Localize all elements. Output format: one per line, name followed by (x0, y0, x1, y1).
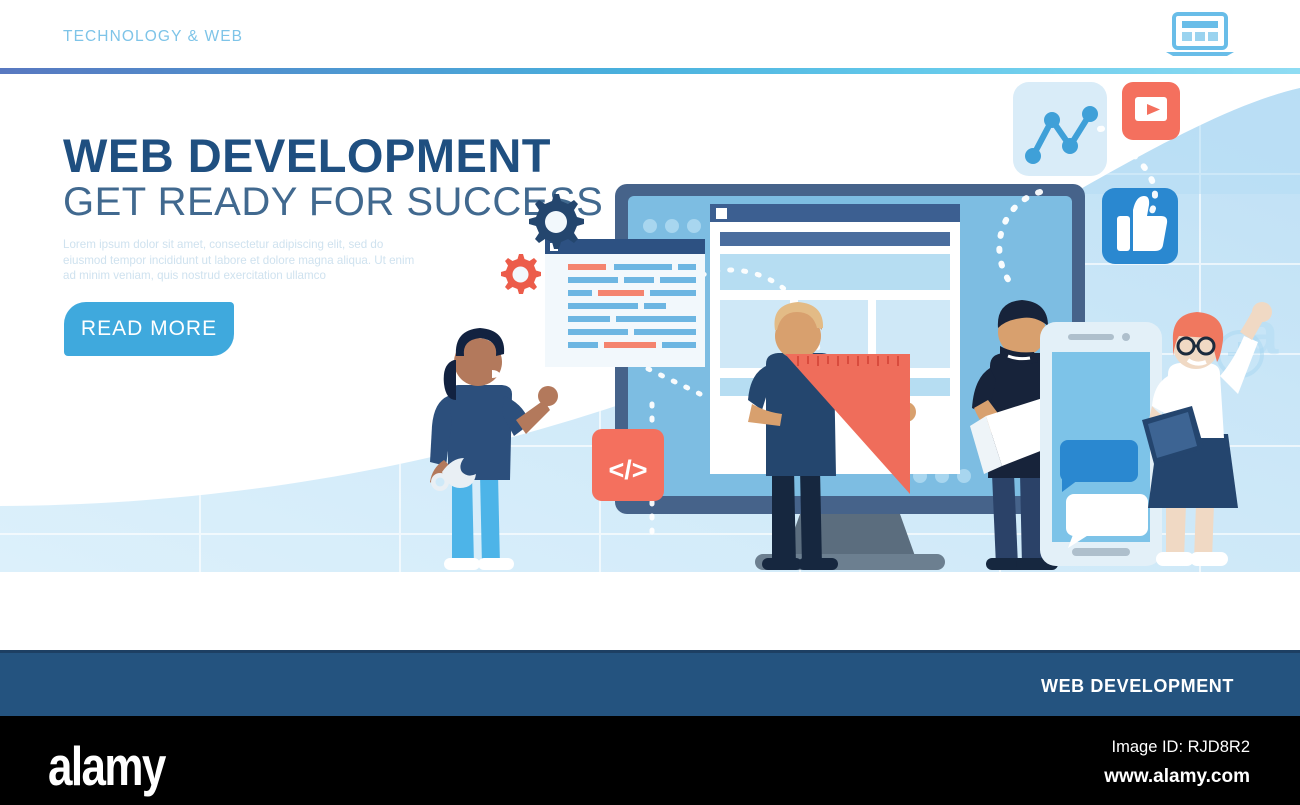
like-card[interactable] (1102, 188, 1178, 264)
code-card[interactable]: </> (592, 429, 664, 501)
hero-illustration: a a (400, 74, 1300, 574)
browser-laptop-icon[interactable] (1164, 12, 1236, 58)
gear-large-icon (529, 194, 584, 249)
footer-band: WEB DEVELOPMENT (0, 650, 1300, 716)
site-header: TECHNOLOGY & WEB (0, 0, 1300, 68)
footer-title: WEB DEVELOPMENT (1041, 676, 1234, 697)
read-more-button[interactable]: READ MORE (64, 302, 234, 356)
gear-small-icon (501, 254, 541, 294)
image-id-label: Image ID: RJD8R2 (1112, 738, 1250, 757)
alamy-url-label: www.alamy.com (1104, 766, 1250, 788)
svg-text:</>: </> (608, 455, 647, 485)
video-card[interactable] (1122, 82, 1180, 140)
alamy-logo: alamy (48, 734, 165, 798)
analytics-card[interactable] (1013, 82, 1107, 176)
hero-section: WEB DEVELOPMENT GET READY FOR SUCCESS Lo… (0, 74, 1300, 574)
stock-watermark-bar: alamy Image ID: RJD8R2 www.alamy.com (0, 716, 1300, 805)
hero-body-text: Lorem ipsum dolor sit amet, consectetur … (63, 237, 415, 284)
brand-eyebrow: TECHNOLOGY & WEB (63, 28, 243, 46)
landing-page: TECHNOLOGY & WEB (0, 0, 1300, 805)
monitor-window-dots (643, 219, 701, 233)
smartphone (1040, 322, 1162, 566)
person-woman-with-gears (430, 328, 558, 570)
code-editor-window (545, 239, 705, 367)
